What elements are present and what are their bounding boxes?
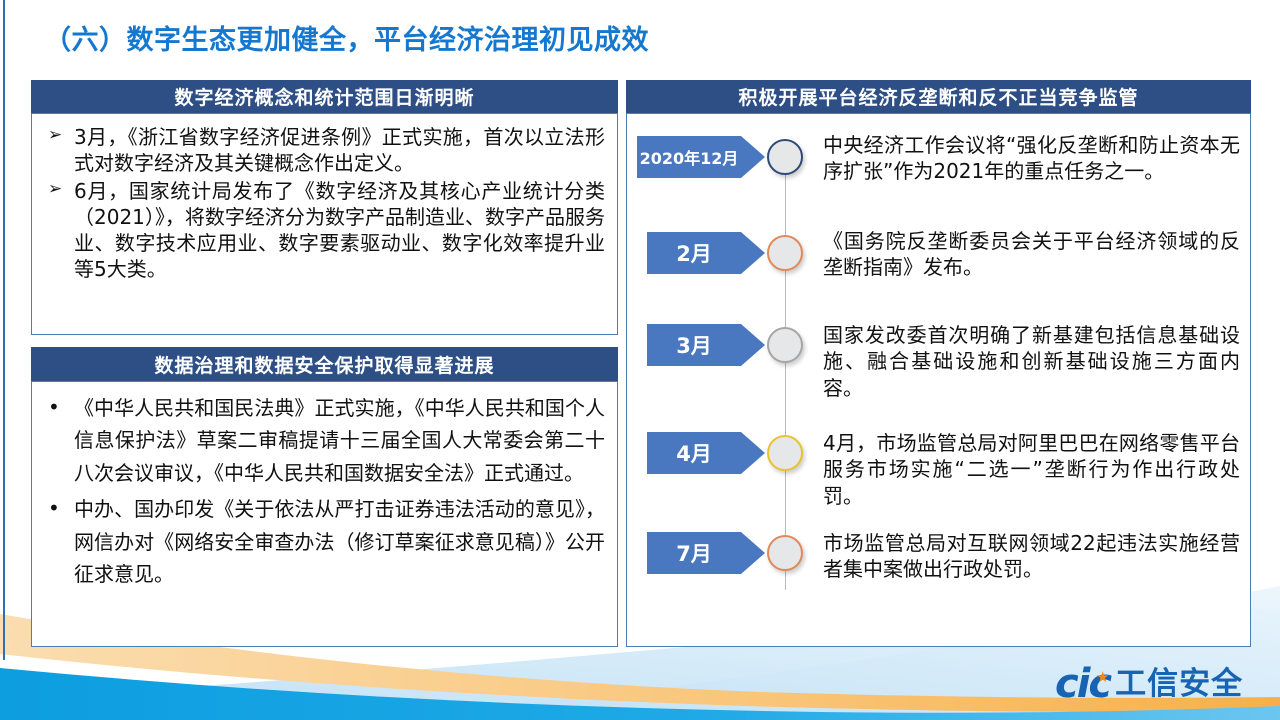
right-panel-body: 2020年12月中央经济工作会议将“强化反垄断和防止资本无序扩张”作为2021年… — [626, 113, 1251, 647]
timeline-spine — [785, 150, 786, 590]
star-icon: ★ — [1096, 670, 1107, 685]
list-item-text: 《中华人民共和国民法典》正式实施，《中华人民共和国个人信息保护法》草案二审稿提请… — [74, 392, 605, 489]
timeline-date-label: 2020年12月 — [640, 145, 739, 169]
timeline-marker-icon — [767, 535, 803, 571]
timeline-date-badge: 4月 — [647, 432, 741, 474]
logo-company-name: 工信安全 — [1115, 669, 1243, 700]
page-title: （六）数字生态更加健全，平台经济治理初见成效 — [44, 18, 649, 57]
timeline-marker-icon — [767, 139, 803, 175]
logo-cic-mark: cic ★ — [1055, 664, 1110, 704]
bullet-marker-icon: ➢ — [46, 178, 74, 201]
list-item-text: 3月，《浙江省数字经济促进条例》正式实施，首次以立法形式对数字经济及其关键概念作… — [74, 124, 605, 176]
timeline-date-badge: 2月 — [647, 232, 741, 274]
list-item: ➢ 3月，《浙江省数字经济促进条例》正式实施，首次以立法形式对数字经济及其关键概… — [46, 124, 605, 176]
timeline-date-badge: 7月 — [647, 532, 741, 574]
left-panel-2-bullet-list: • 《中华人民共和国民法典》正式实施，《中华人民共和国个人信息保护法》草案二审稿… — [32, 382, 617, 590]
left-panel-2-body: • 《中华人民共和国民法典》正式实施，《中华人民共和国个人信息保护法》草案二审稿… — [31, 381, 618, 647]
left-accent-rule — [3, 0, 5, 660]
list-item: ➢ 6月，国家统计局发布了《数字经济及其核心产业统计分类（2021）》，将数字经… — [46, 178, 605, 282]
timeline-date-label: 2月 — [676, 238, 712, 268]
timeline-entry-text: 中央经济工作会议将“强化反垄断和防止资本无序扩张”作为2021年的重点任务之一。 — [823, 132, 1240, 185]
list-item: • 中办、国办印发《关于依法从严打击证券违法活动的意见》，网信办对《网络安全审查… — [46, 493, 605, 590]
timeline-marker-icon — [767, 235, 803, 271]
left-panel-1-header: 数字经济概念和统计范围日渐明晰 — [31, 80, 618, 113]
bullet-marker-icon: • — [46, 392, 74, 423]
bullet-marker-icon: ➢ — [46, 124, 74, 147]
slide-canvas: （六）数字生态更加健全，平台经济治理初见成效 数字经济概念和统计范围日渐明晰 ➢… — [0, 0, 1280, 720]
list-item-text: 6月，国家统计局发布了《数字经济及其核心产业统计分类（2021）》，将数字经济分… — [74, 178, 605, 282]
timeline-date-badge: 2020年12月 — [637, 136, 741, 178]
timeline-date-badge: 3月 — [647, 324, 741, 366]
right-panel-header: 积极开展平台经济反垄断和反不正当竞争监管 — [626, 80, 1251, 113]
timeline-marker-icon — [767, 327, 803, 363]
timeline-marker-icon — [767, 435, 803, 471]
timeline-date-label: 3月 — [676, 330, 712, 360]
list-item: • 《中华人民共和国民法典》正式实施，《中华人民共和国个人信息保护法》草案二审稿… — [46, 392, 605, 489]
timeline-date-label: 4月 — [676, 438, 712, 468]
timeline: 2020年12月中央经济工作会议将“强化反垄断和防止资本无序扩张”作为2021年… — [627, 114, 1250, 646]
timeline-entry-text: 《国务院反垄断委员会关于平台经济领域的反垄断指南》发布。 — [823, 228, 1240, 281]
list-item-text: 中办、国办印发《关于依法从严打击证券违法活动的意见》，网信办对《网络安全审查办法… — [74, 493, 605, 590]
left-panel-1-body: ➢ 3月，《浙江省数字经济促进条例》正式实施，首次以立法形式对数字经济及其关键概… — [31, 113, 618, 335]
bullet-marker-icon: • — [46, 493, 74, 524]
left-panel-1-bullet-list: ➢ 3月，《浙江省数字经济促进条例》正式实施，首次以立法形式对数字经济及其关键概… — [32, 114, 617, 282]
timeline-date-label: 7月 — [676, 538, 712, 568]
timeline-entry-text: 市场监管总局对互联网领域22起违法实施经营者集中案做出行政处罚。 — [823, 530, 1240, 583]
left-panel-2-header: 数据治理和数据安全保护取得显著进展 — [31, 347, 618, 381]
timeline-entry-text: 国家发改委首次明确了新基建包括信息基础设施、融合基础设施和创新基础设施三方面内容… — [823, 322, 1240, 401]
company-logo: cic ★ 工信安全 — [1055, 664, 1243, 704]
timeline-entry-text: 4月，市场监管总局对阿里巴巴在网络零售平台服务市场实施“二选一”垄断行为作出行政… — [823, 430, 1240, 509]
